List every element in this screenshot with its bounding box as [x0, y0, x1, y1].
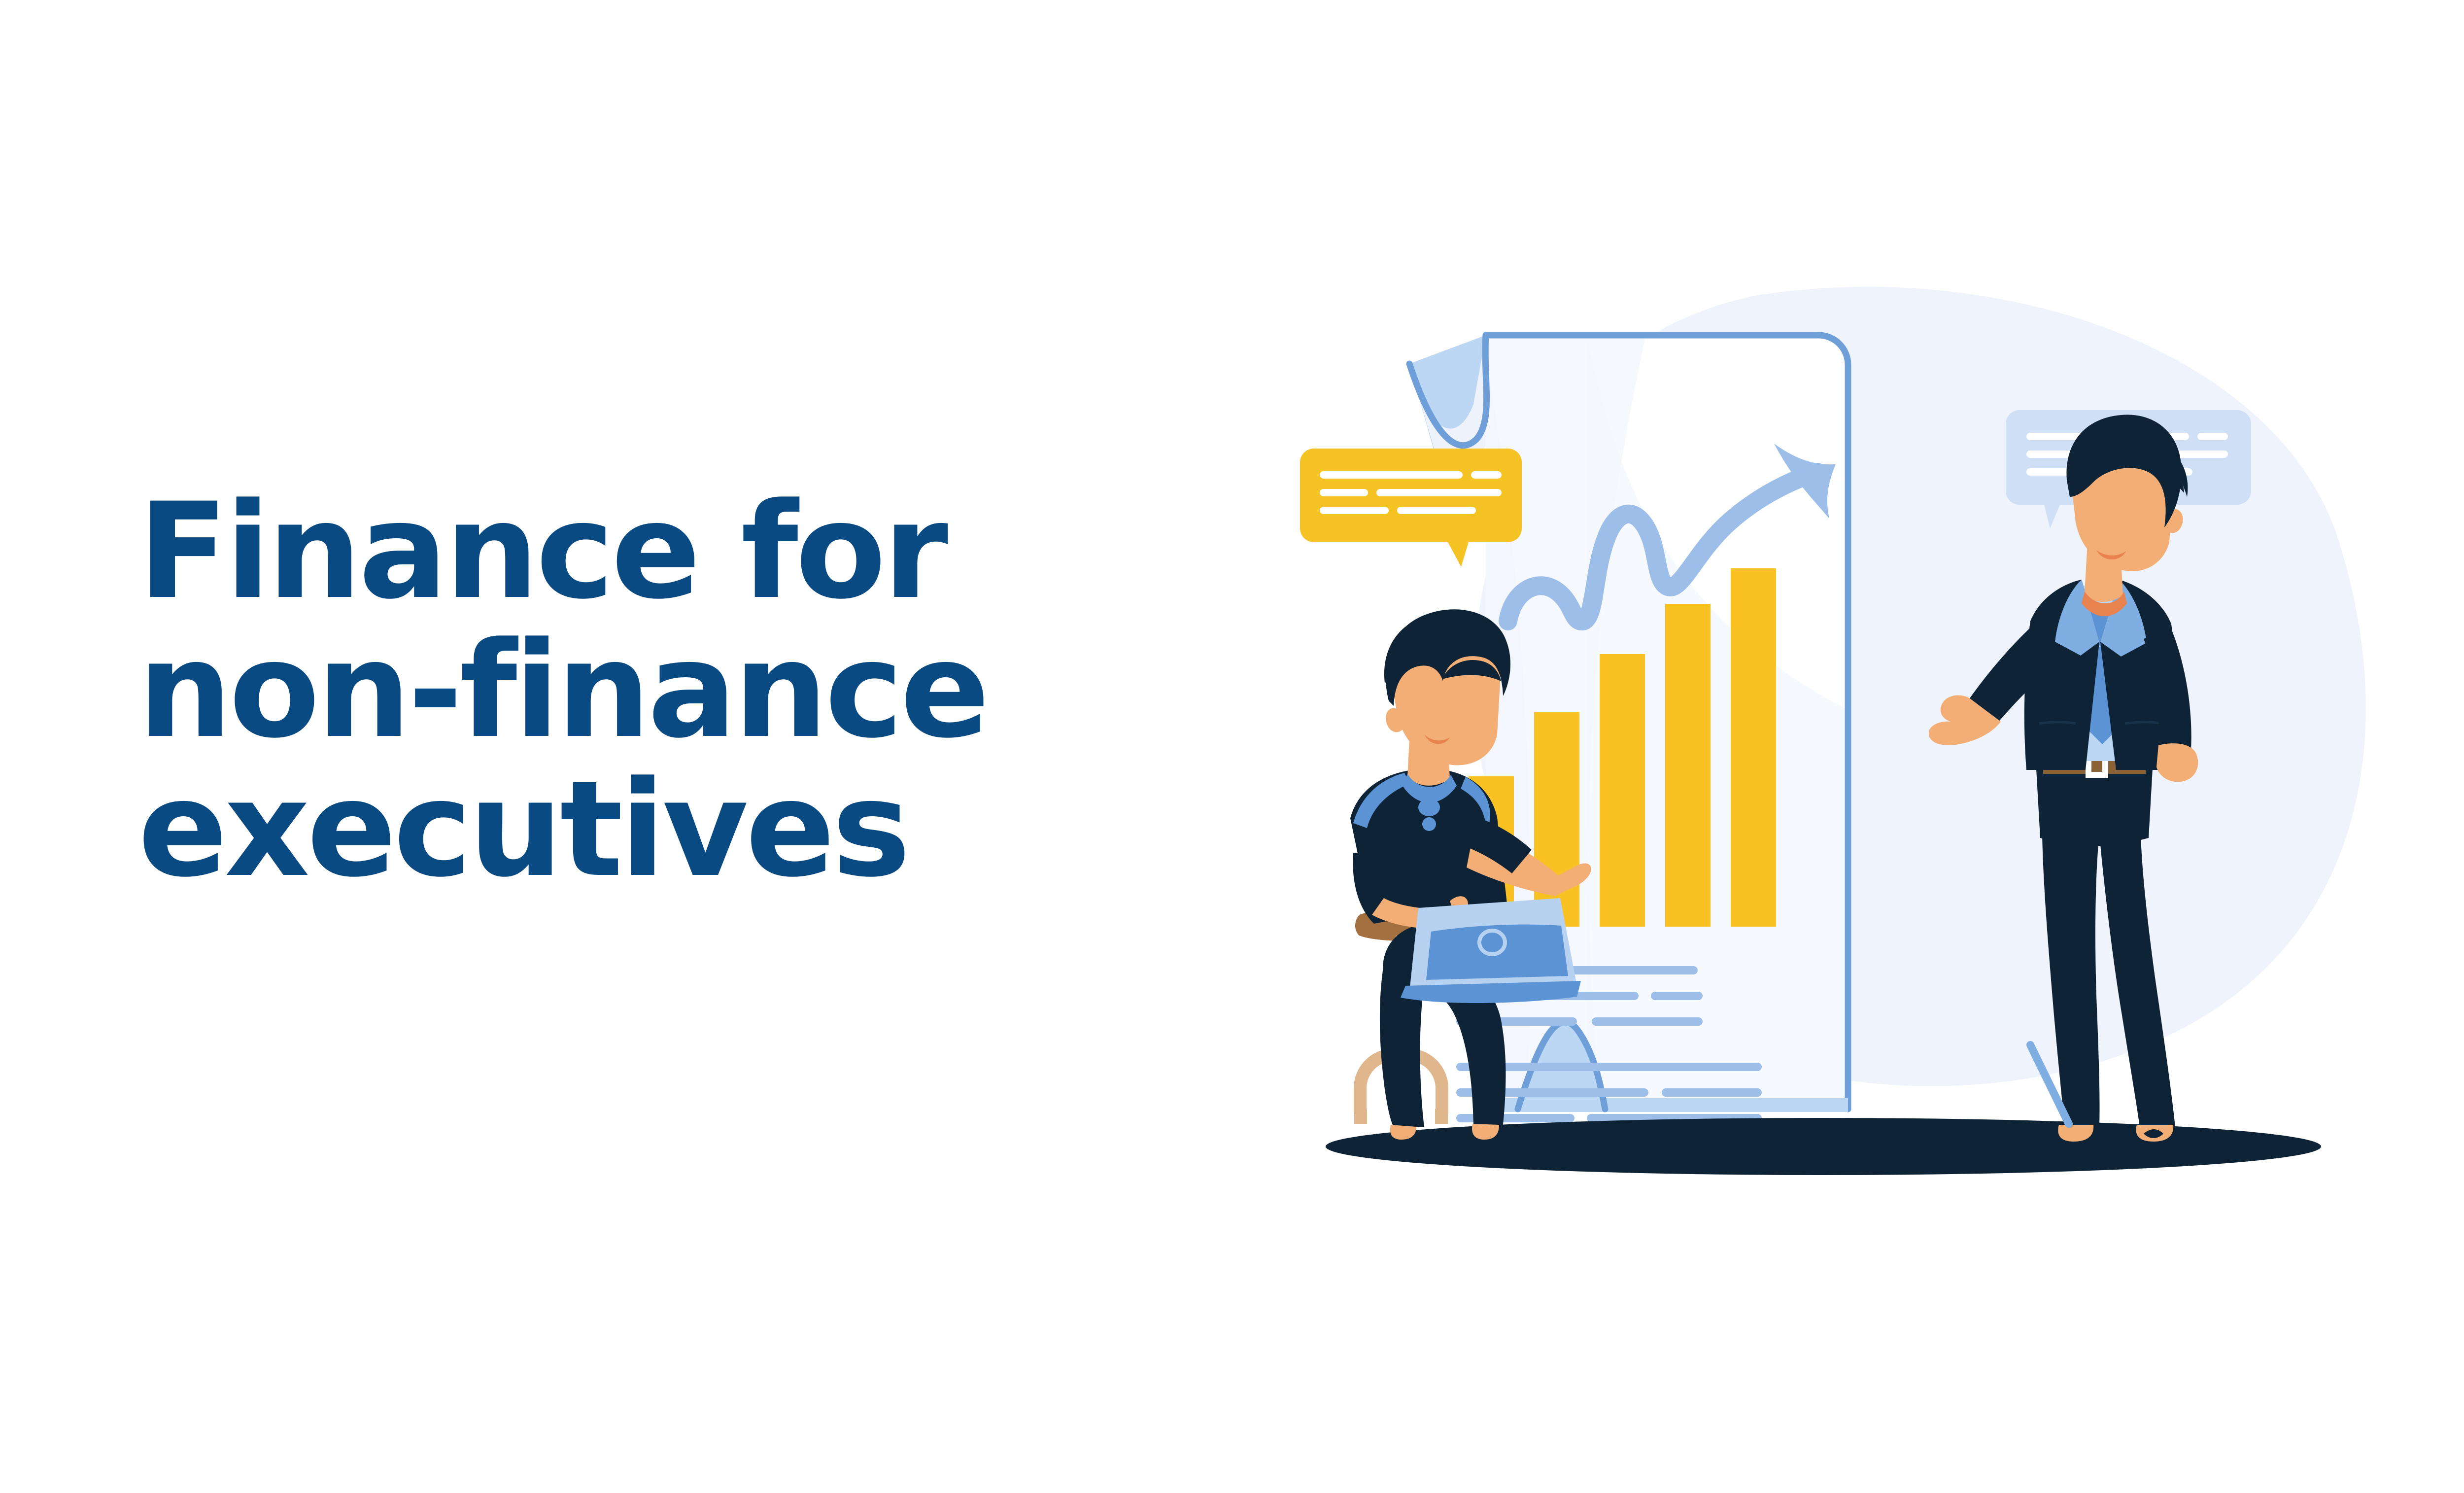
seated-person-head: [1384, 609, 1510, 765]
chart-bar-3: [1600, 654, 1645, 927]
page-title: Finance for non-finance executives: [138, 486, 1212, 896]
title-line-1: Finance for: [138, 486, 1212, 618]
laptop: [1401, 898, 1581, 1003]
chart-bar-5: [1731, 568, 1776, 927]
chart-bar-4: [1665, 604, 1711, 927]
page-curl-top-left: [1409, 335, 1487, 468]
canvas: Finance for non-finance executives: [0, 0, 2464, 1493]
title-line-3: executives: [138, 764, 1212, 896]
business-presentation-illustration: [1262, 276, 2395, 1188]
title-line-2: non-finance: [138, 625, 1212, 757]
